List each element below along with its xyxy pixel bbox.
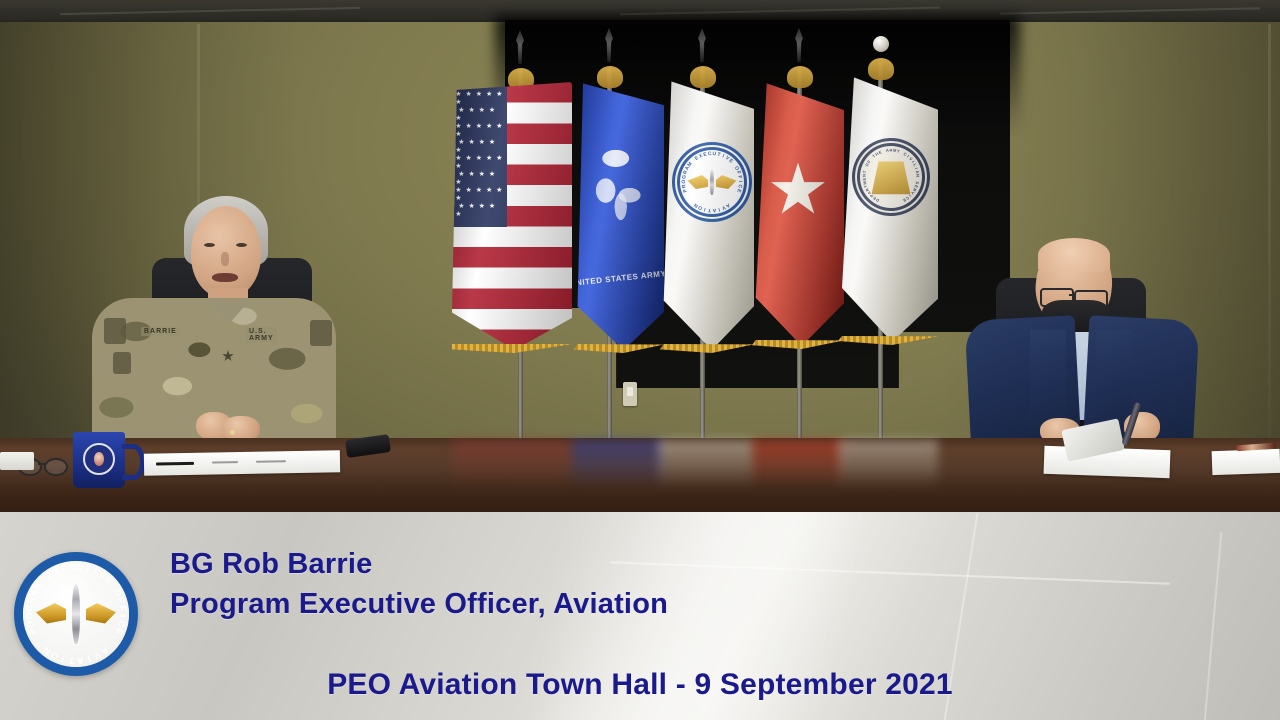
flag-fringe [658, 344, 754, 353]
paper-document-left [144, 450, 340, 475]
coffee-mug [73, 432, 125, 488]
flag-cord [597, 66, 623, 88]
eye-right [236, 243, 247, 247]
eye-left [204, 243, 215, 247]
flag-fringe [452, 344, 572, 353]
nose [221, 252, 229, 266]
table-reflection-us-flag [452, 440, 572, 488]
ring [230, 430, 235, 435]
name-tape-barrie: BARRIE [141, 327, 180, 336]
flag-fringe [752, 340, 844, 349]
paper-document-far-right [1212, 449, 1280, 475]
speaker-title: Program Executive Officer, Aviation [170, 588, 668, 621]
service-tape-us-army: U.S. ARMY [246, 327, 277, 343]
mug-logo [83, 443, 115, 475]
flag-cord [787, 66, 813, 88]
speaker-name: BG Rob Barrie [170, 548, 372, 581]
peo-aviation-logo: PROGRAM EXECUTIVE OFFICE AVIATION [14, 552, 138, 676]
flag-fringe [572, 344, 664, 353]
spear-finial-icon [602, 28, 616, 62]
spear-finial-icon [513, 30, 527, 64]
video-frame: ★ ★ ★ ★ ★ ★ ★ ★ ★ ★ ★★ ★ ★ ★ ★ ★ ★ ★ ★ ★… [0, 0, 1280, 720]
flag-cloth: UNITED STATES ARMY [572, 78, 664, 350]
flag-cloth: PROGRAM EXECUTIVE OFFICEAVIATION [658, 76, 754, 350]
mug-handle [122, 444, 145, 480]
shoulder-patch-right [310, 320, 332, 346]
bald-head [1038, 238, 1110, 272]
flag-cloth [752, 78, 844, 346]
table-reflection-da-flag [838, 440, 938, 488]
shoulder-patch-left [104, 318, 126, 344]
flag-cloth: DEPARTMENT OF THE ARMY CIVILIAN SERVICE [838, 72, 938, 342]
flag-cord [868, 58, 894, 80]
spear-finial-icon [695, 28, 709, 62]
unit-patch [113, 352, 131, 374]
logo-field [23, 561, 129, 667]
flag-cord [690, 66, 716, 88]
event-title: PEO Aviation Town Hall - 9 September 202… [0, 668, 1280, 702]
flag-cloth: ★ ★ ★ ★ ★ ★ ★ ★ ★ ★ ★★ ★ ★ ★ ★ ★ ★ ★ ★ ★… [452, 82, 572, 350]
propeller-icon [72, 584, 80, 644]
small-paper-scrap [0, 452, 34, 470]
eyeglasses-bridge [1069, 294, 1076, 296]
flag-fringe [838, 336, 938, 345]
table-reflection-army-flag [572, 440, 664, 488]
ball-finial-icon [873, 36, 889, 52]
table-reflection-peo-flag [658, 440, 754, 488]
mouth [212, 273, 238, 282]
spear-finial-icon [792, 28, 806, 62]
table-reflection-red-flag [752, 440, 844, 488]
